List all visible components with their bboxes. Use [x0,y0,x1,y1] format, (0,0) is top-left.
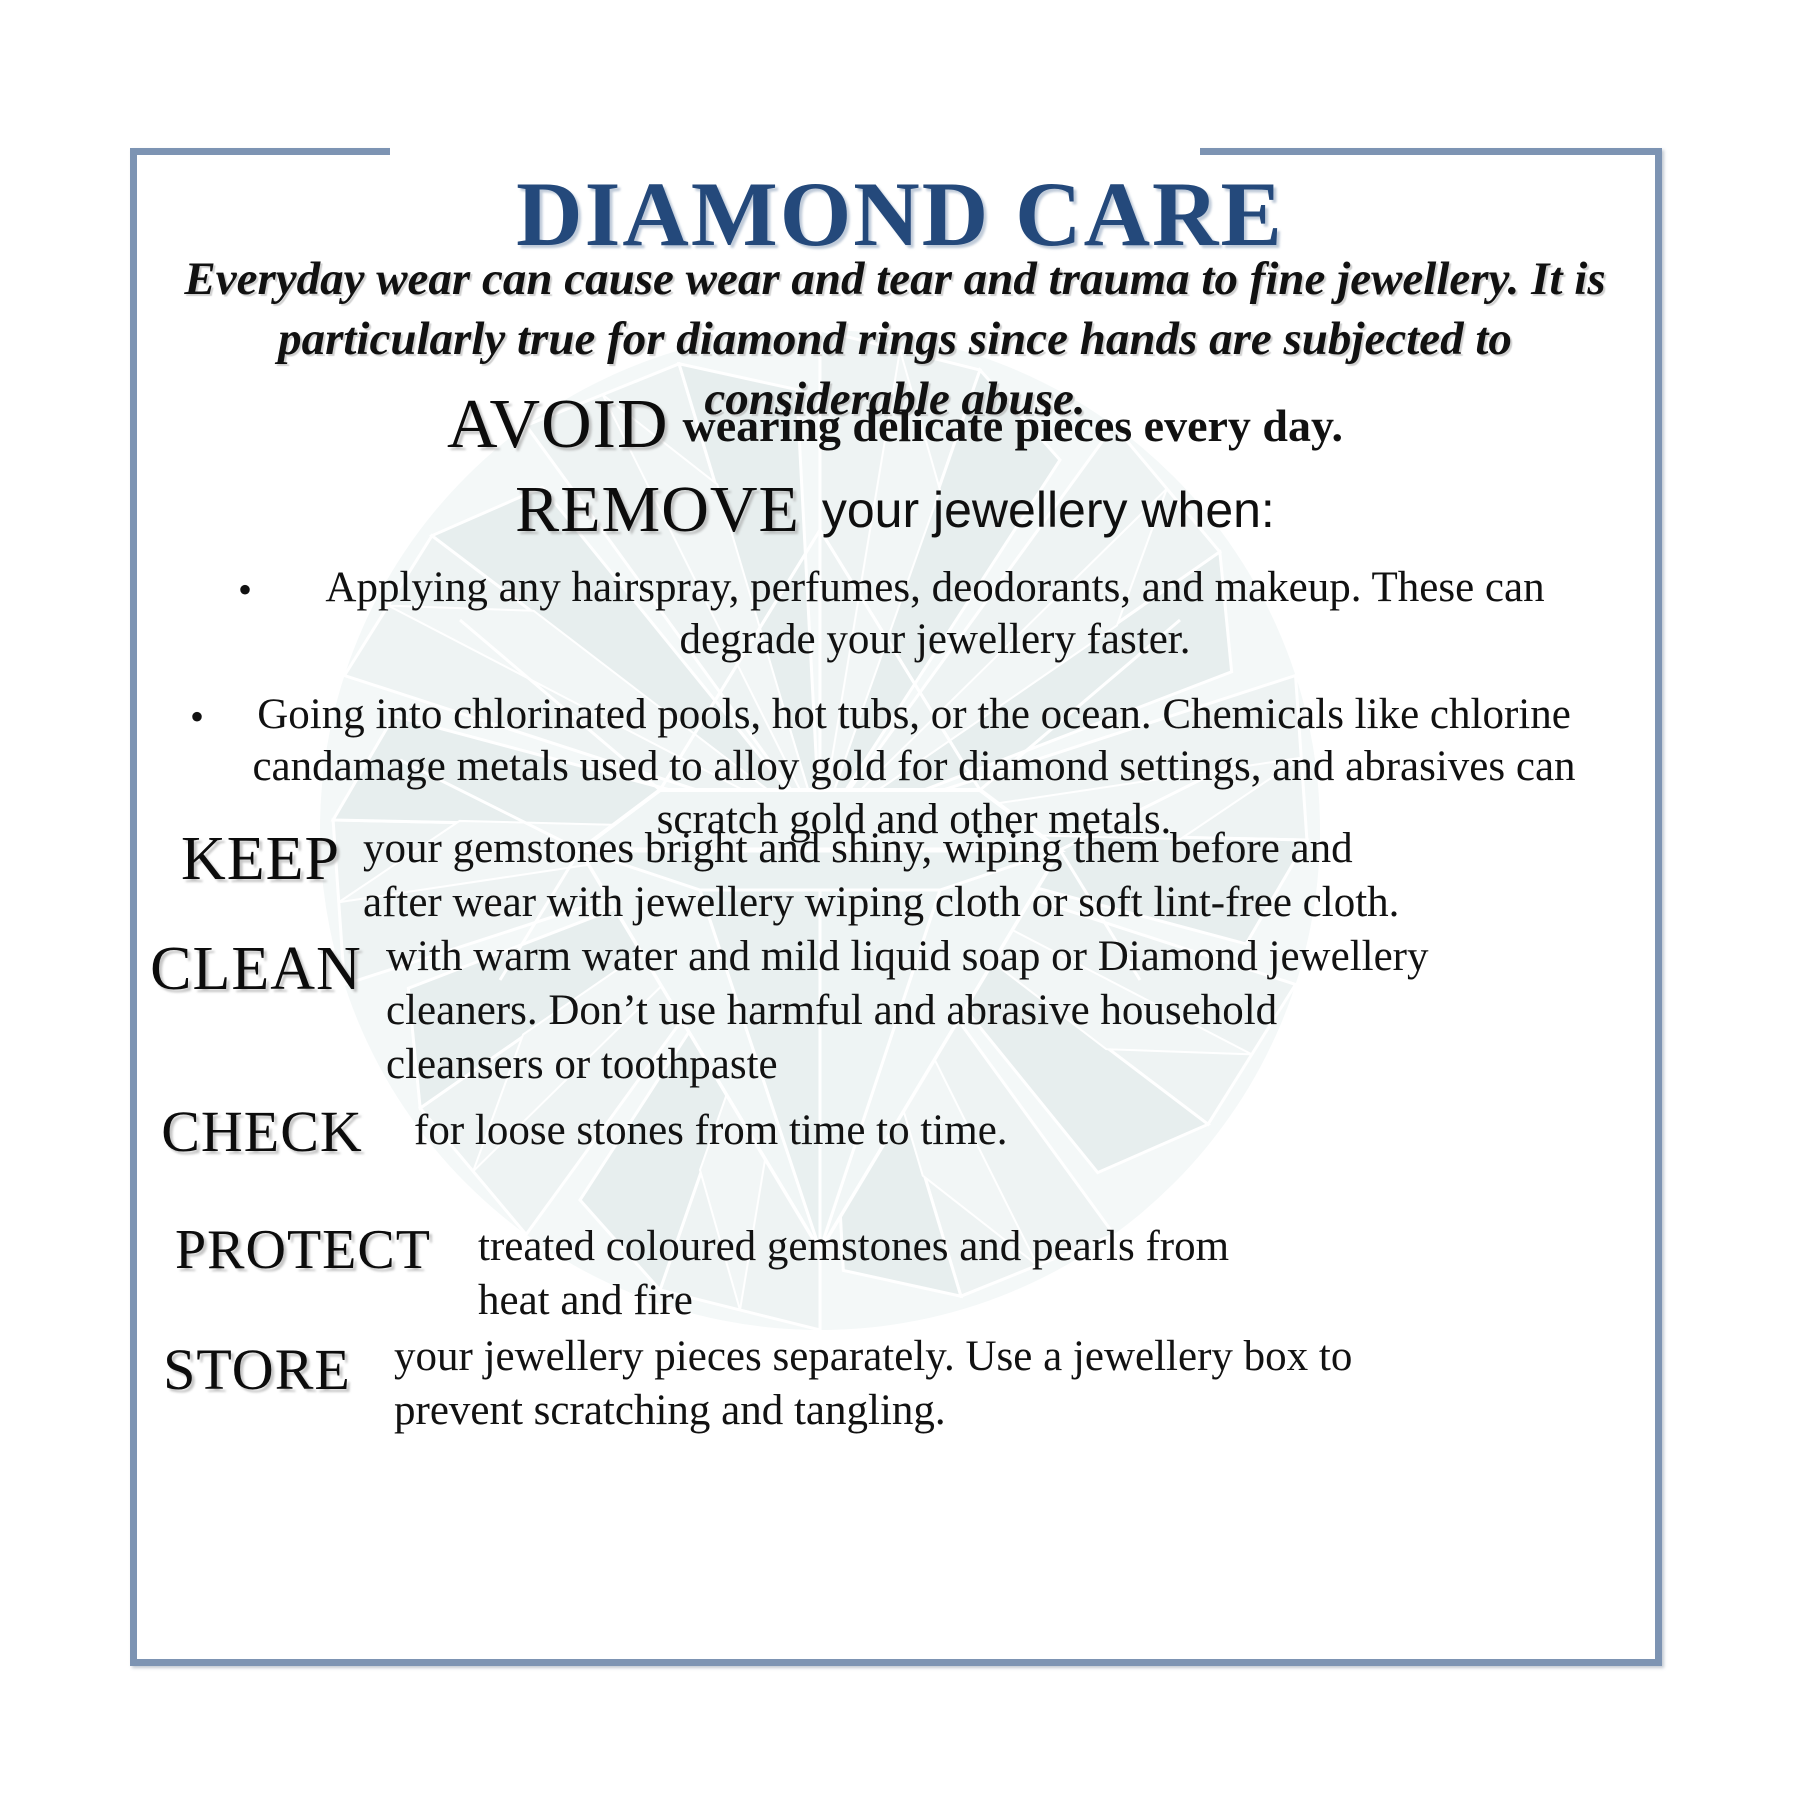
list-item-text: Applying any hairspray, perfumes, deodor… [190,562,1610,667]
check-line: for loose stones from time to time. [414,1104,1598,1158]
section-keep: KEEP your gemstones bright and shiny, wi… [168,822,1608,930]
remove-text: your jewellery when: [822,482,1275,538]
list-item: • Applying any hairspray, perfumes, deod… [190,562,1610,667]
clean-line: cleansers or toothpaste [386,1038,1610,1092]
keep-text: your gemstones bright and shiny, wiping … [353,822,1608,930]
check-keyword: CHECK [138,1092,386,1165]
store-line: your jewellery pieces separately. Use a … [394,1330,1600,1384]
avoid-keyword: AVOID [447,386,669,463]
protect-keyword: PROTECT [148,1212,458,1282]
check-text: for loose stones from time to time. [386,1092,1598,1158]
remove-keyword: REMOVE [515,473,800,546]
avoid-row: AVOIDwearing delicate pieces every day. [150,390,1640,460]
list-item-line: Applying any hairspray, perfumes, deodor… [325,564,1361,611]
list-item-line: Going into chlorinated pools, hot tubs, … [257,691,1419,738]
clean-line: cleaners. Don’t use harmful and abrasive… [386,984,1610,1038]
bullet-marker: • [238,570,252,610]
page-title: DIAMOND CARE [0,168,1800,260]
section-clean: CLEAN with warm water and mild liquid so… [140,930,1610,1093]
keep-line: after wear with jewellery wiping cloth o… [363,876,1608,930]
keep-line: your gemstones bright and shiny, wiping … [363,822,1608,876]
avoid-text: wearing delicate pieces every day. [683,400,1343,451]
protect-text: treated coloured gemstones and pearls fr… [458,1212,1598,1328]
section-protect: PROTECT treated coloured gemstones and p… [148,1212,1598,1328]
remove-row: REMOVEyour jewellery when: [150,477,1640,543]
section-check: CHECK for loose stones from time to time… [138,1092,1598,1165]
section-store: STORE your jewellery pieces separately. … [140,1330,1600,1438]
diamond-care-poster: DIAMOND CARE Everyday wear can cause wea… [0,0,1800,1800]
store-line: prevent scratching and tangling. [394,1384,1600,1438]
clean-keyword: CLEAN [140,930,372,1005]
store-text: your jewellery pieces separately. Use a … [374,1330,1600,1438]
keep-keyword: KEEP [168,822,353,895]
bullet-marker: • [190,697,204,737]
protect-line: treated coloured gemstones and pearls fr… [478,1220,1598,1274]
clean-text: with warm water and mild liquid soap or … [372,930,1610,1093]
clean-line: with warm water and mild liquid soap or … [386,930,1610,984]
store-keyword: STORE [140,1330,374,1403]
protect-line: heat and fire [478,1274,1598,1328]
